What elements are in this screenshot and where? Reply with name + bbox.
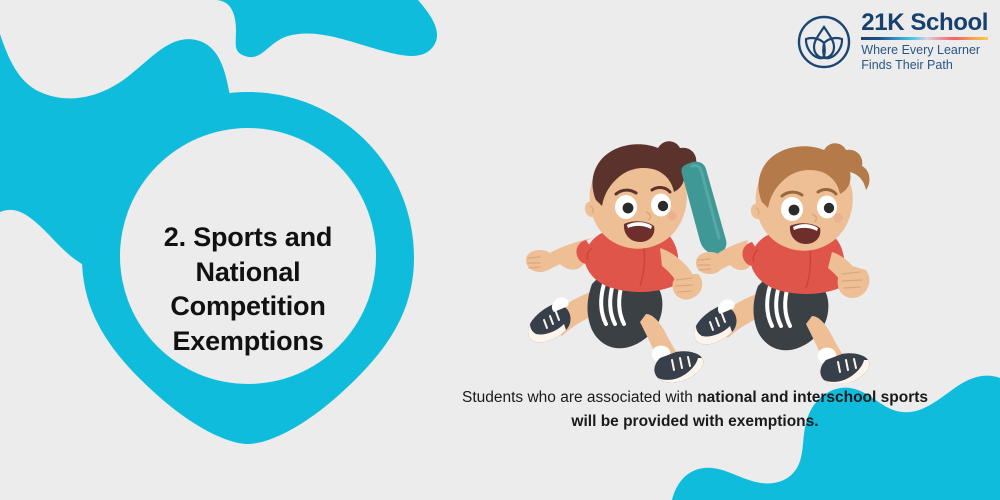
caption-lead: Students who are associated with	[462, 389, 697, 406]
shoe-back-left	[528, 304, 571, 342]
title-line-1: 2. Sports and	[129, 220, 367, 255]
lotus-in-circle-logo-mark-icon	[796, 14, 852, 70]
slide-canvas: 2. Sports and National Competition Exemp…	[0, 0, 1000, 500]
title-line-2: National	[129, 255, 367, 290]
logo-tagline: Where Every Learner Finds Their Path	[861, 43, 988, 72]
page-title: 2. Sports and National Competition Exemp…	[129, 220, 367, 358]
logo-text-block: 21K School Where Every Learner Finds The…	[861, 11, 988, 72]
two-boys-running-relay-illustration	[500, 108, 900, 383]
brand-logo[interactable]: 21K School Where Every Learner Finds The…	[796, 11, 988, 72]
boy-left	[526, 141, 703, 382]
relay-baton	[681, 162, 726, 254]
logo-title: 21K School	[861, 11, 988, 35]
headline-pin-badge: 2. Sports and National Competition Exemp…	[78, 88, 418, 448]
title-line-3: Competition	[129, 289, 367, 324]
shoe-back-right	[694, 306, 737, 344]
caption-text: Students who are associated with nationa…	[455, 386, 935, 434]
logo-tagline-line-2: Finds Their Path	[861, 58, 988, 72]
logo-tagline-line-1: Where Every Learner	[861, 43, 988, 57]
logo-gradient-rule	[861, 37, 988, 40]
title-line-4: Exemptions	[129, 324, 367, 359]
boy-right	[694, 143, 869, 383]
